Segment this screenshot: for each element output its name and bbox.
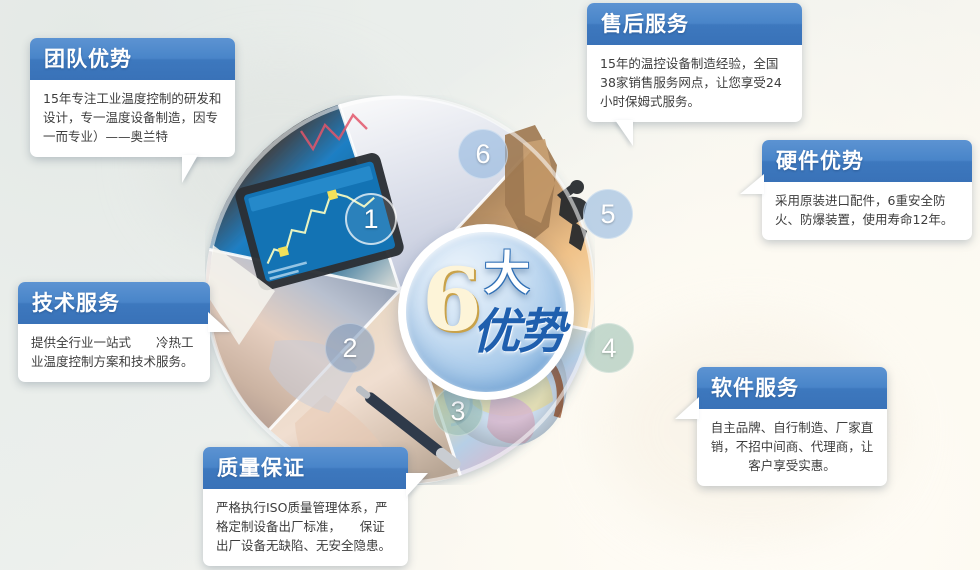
- callout-tail-software: [675, 397, 699, 419]
- callout-tail-after-sales: [615, 120, 633, 146]
- callout-body-quality: 严格执行ISO质量管理体系，严格定制设备出厂标准， 保证出厂设备无缺陷、无安全隐…: [203, 489, 408, 566]
- callout-tail-team: [182, 155, 198, 183]
- badge-5[interactable]: 5: [583, 189, 633, 239]
- poster-canvas: 1 2 3 4 5 6 6 大 优势 团队优势 15年专注工业温度控制的研发和设…: [0, 0, 980, 570]
- callout-body-hardware: 采用原装进口配件，6重安全防火、防爆装置，使用寿命12年。: [762, 182, 972, 240]
- callout-card-software[interactable]: 软件服务 自主品牌、自行制造、厂家直销，不招中间商、代理商，让客户享受实惠。: [697, 367, 887, 486]
- callout-title-team: 团队优势: [30, 38, 235, 80]
- badge-4[interactable]: 4: [584, 323, 634, 373]
- center-hub-inner: 6 大 优势: [406, 232, 566, 392]
- callout-title-hardware: 硬件优势: [762, 140, 972, 182]
- callout-tail-quality: [406, 473, 428, 497]
- hub-unit: 大: [484, 250, 530, 296]
- callout-tail-tech: [208, 312, 230, 332]
- callout-body-software: 自主品牌、自行制造、厂家直销，不招中间商、代理商，让客户享受实惠。: [697, 409, 887, 486]
- badge-6[interactable]: 6: [458, 129, 508, 179]
- callout-card-team[interactable]: 团队优势 15年专注工业温度控制的研发和设计，专一温度设备制造，因专一而专业）—…: [30, 38, 235, 157]
- callout-tail-hardware: [740, 174, 764, 194]
- callout-card-tech[interactable]: 技术服务 提供全行业一站式 冷热工业温度控制方案和技术服务。: [18, 282, 210, 382]
- callout-body-team: 15年专注工业温度控制的研发和设计，专一温度设备制造，因专一而专业）——奥兰特: [30, 80, 235, 157]
- callout-title-software: 软件服务: [697, 367, 887, 409]
- hub-word: 优势: [472, 306, 564, 358]
- callout-title-after-sales: 售后服务: [587, 3, 802, 45]
- badge-2[interactable]: 2: [325, 323, 375, 373]
- callout-card-after-sales[interactable]: 售后服务 15年的温控设备制造经验，全国38家销售服务网点，让您享受24小时保姆…: [587, 3, 802, 122]
- callout-body-tech: 提供全行业一站式 冷热工业温度控制方案和技术服务。: [18, 324, 210, 382]
- callout-card-hardware[interactable]: 硬件优势 采用原装进口配件，6重安全防火、防爆装置，使用寿命12年。: [762, 140, 972, 240]
- callout-title-quality: 质量保证: [203, 447, 408, 489]
- callout-body-after-sales: 15年的温控设备制造经验，全国38家销售服务网点，让您享受24小时保姆式服务。: [587, 45, 802, 122]
- callout-card-quality[interactable]: 质量保证 严格执行ISO质量管理体系，严格定制设备出厂标准， 保证出厂设备无缺陷…: [203, 447, 408, 566]
- center-hub: 6 大 优势: [398, 224, 574, 400]
- callout-title-tech: 技术服务: [18, 282, 210, 324]
- badge-1[interactable]: 1: [345, 193, 397, 245]
